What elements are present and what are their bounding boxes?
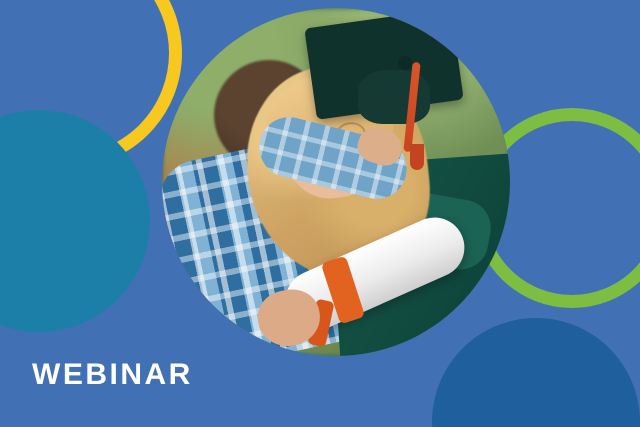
photo-content [162, 8, 510, 356]
graduation-tassel-tip [410, 144, 424, 170]
webinar-banner: WEBINAR [0, 0, 640, 427]
graduation-cap-dome [358, 70, 430, 124]
graduation-photo [162, 8, 510, 356]
webinar-label: WEBINAR [32, 358, 193, 392]
graduation-cap-button [398, 56, 412, 70]
